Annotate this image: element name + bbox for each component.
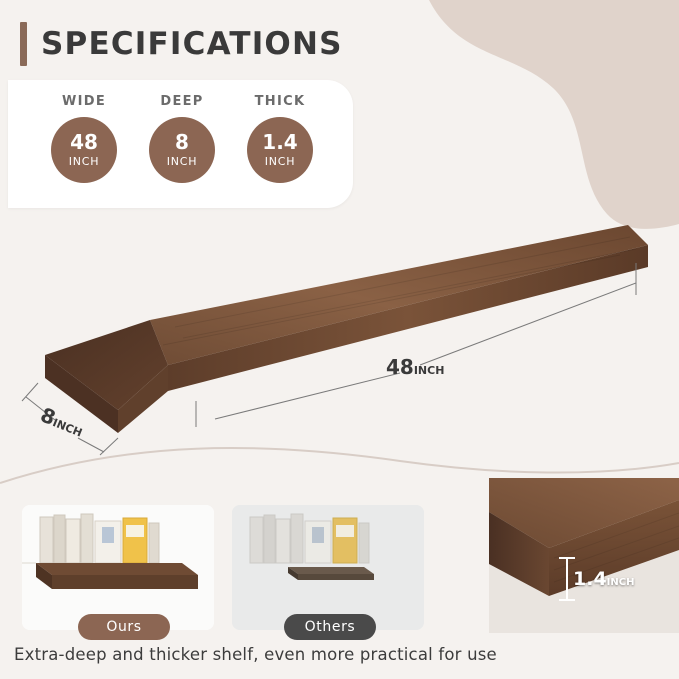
spec-label-thick: THICK <box>244 94 316 109</box>
shelf-illustration <box>0 205 679 470</box>
spec-value-deep: 8 <box>175 132 189 152</box>
comparison-panel-others <box>232 505 424 630</box>
badge-others: Others <box>284 614 376 640</box>
spec-unit-thick: INCH <box>265 155 296 168</box>
badge-ours: Ours <box>78 614 170 640</box>
caption-text: Extra-deep and thicker shelf, even more … <box>14 645 665 664</box>
spec-label-wide: WIDE <box>48 94 120 109</box>
spec-card: WIDE 48 INCH DEEP 8 INCH THICK 1.4 INCH <box>8 80 353 208</box>
spec-item-wide: WIDE 48 INCH <box>48 94 120 183</box>
page-title: SPECIFICATIONS <box>41 26 343 62</box>
header-accent-bar <box>20 22 27 66</box>
page-header: SPECIFICATIONS <box>20 22 343 66</box>
thickness-closeup <box>489 478 679 633</box>
spec-item-deep: DEEP 8 INCH <box>146 94 218 183</box>
product-spec-image: SPECIFICATIONS WIDE 48 INCH DEEP 8 INCH … <box>0 0 679 679</box>
spec-unit-wide: INCH <box>69 155 100 168</box>
spec-value-thick: 1.4 <box>262 132 297 152</box>
spec-value-wide: 48 <box>70 132 98 152</box>
thickness-dimension-label: 1.4INCH <box>573 568 634 590</box>
comparison-panel-ours <box>22 505 214 630</box>
spec-unit-deep: INCH <box>167 155 198 168</box>
spec-label-deep: DEEP <box>146 94 218 109</box>
spec-circle-thick: 1.4 INCH <box>247 117 313 183</box>
spec-circle-deep: 8 INCH <box>149 117 215 183</box>
width-dimension-label: 48INCH <box>386 355 444 379</box>
spec-circle-wide: 48 INCH <box>51 117 117 183</box>
spec-item-thick: THICK 1.4 INCH <box>244 94 316 183</box>
decorative-blob <box>339 0 679 230</box>
